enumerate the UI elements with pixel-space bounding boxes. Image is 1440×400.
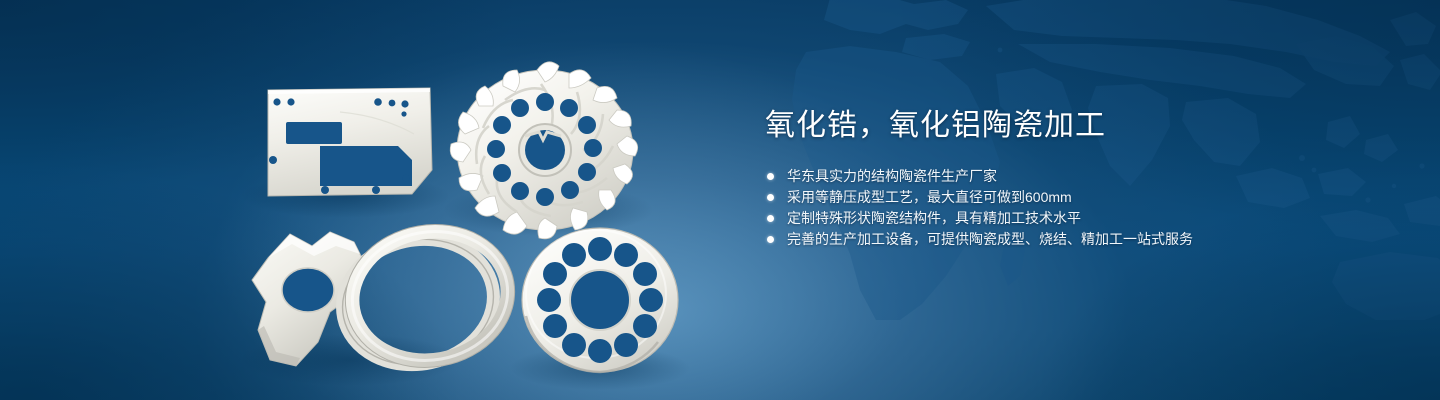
banner-text-block: 氧化锆，氧化铝陶瓷加工 华东具实力的结构陶瓷件生产厂家 采用等静压成型工艺，最大… (765, 106, 1385, 250)
bullet-dot-icon (767, 215, 774, 222)
page-title: 氧化锆，氧化铝陶瓷加工 (765, 106, 1385, 146)
list-item: 定制特殊形状陶瓷结构件，具有精加工技术水平 (765, 208, 1385, 229)
ceramic-products-image (0, 0, 720, 400)
ceramic-processing-hero-banner: 氧化锆，氧化铝陶瓷加工 华东具实力的结构陶瓷件生产厂家 采用等静压成型工艺，最大… (0, 0, 1440, 400)
ceramic-perforated-disc-part (522, 228, 678, 372)
list-item: 采用等静压成型工艺，最大直径可做到600mm (765, 187, 1385, 208)
list-item: 华东具实力的结构陶瓷件生产厂家 (765, 166, 1385, 187)
feature-text: 完善的生产加工设备，可提供陶瓷成型、烧结、精加工一站式服务 (787, 231, 1193, 247)
bullet-dot-icon (767, 236, 774, 243)
feature-text: 定制特殊形状陶瓷结构件，具有精加工技术水平 (787, 210, 1081, 226)
list-item: 完善的生产加工设备，可提供陶瓷成型、烧结、精加工一站式服务 (765, 229, 1385, 250)
bullet-dot-icon (767, 173, 774, 180)
bullet-dot-icon (767, 194, 774, 201)
ceramic-plate-part (268, 88, 432, 196)
feature-list: 华东具实力的结构陶瓷件生产厂家 采用等静压成型工艺，最大直径可做到600mm 定… (765, 166, 1385, 250)
feature-text: 华东具实力的结构陶瓷件生产厂家 (787, 168, 997, 184)
feature-text: 采用等静压成型工艺，最大直径可做到600mm (787, 189, 1072, 205)
